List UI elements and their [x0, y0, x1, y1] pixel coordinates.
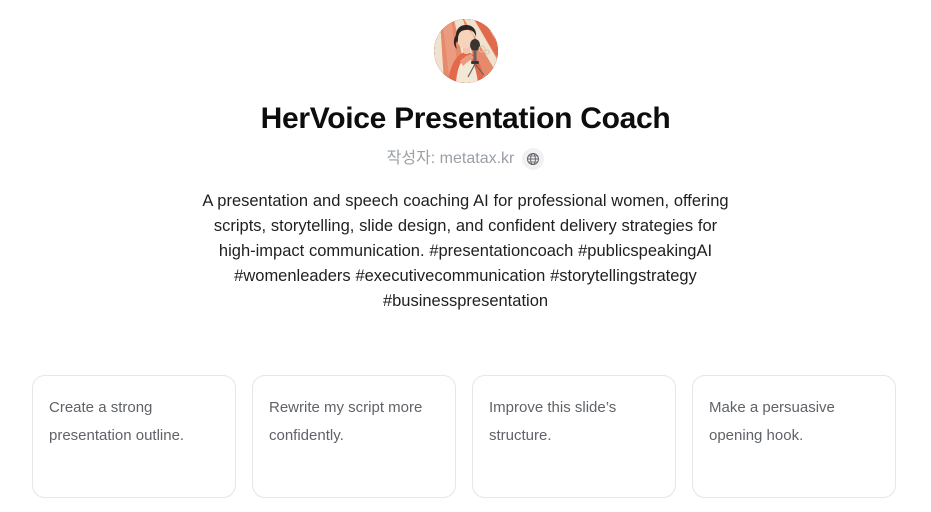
- avatar: [434, 19, 498, 83]
- gpt-profile-page: HerVoice Presentation Coach 작성자: metatax…: [0, 0, 931, 512]
- globe-icon[interactable]: [522, 148, 544, 170]
- author-row: 작성자: metatax.kr: [387, 147, 545, 171]
- woman-with-microphone-avatar: [434, 19, 498, 83]
- prompt-card[interactable]: Create a strong presentation outline.: [32, 375, 236, 498]
- profile-description: A presentation and speech coaching AI fo…: [202, 189, 730, 314]
- prompt-card[interactable]: Rewrite my script more confidently.: [252, 375, 456, 498]
- prompt-card[interactable]: Make a persuasive opening hook.: [692, 375, 896, 498]
- page-title: HerVoice Presentation Coach: [261, 101, 671, 137]
- prompt-starter-list: Create a strong presentation outline. Re…: [32, 375, 896, 498]
- author-label: 작성자: metatax.kr: [387, 149, 515, 169]
- prompt-card[interactable]: Improve this slide’s structure.: [472, 375, 676, 498]
